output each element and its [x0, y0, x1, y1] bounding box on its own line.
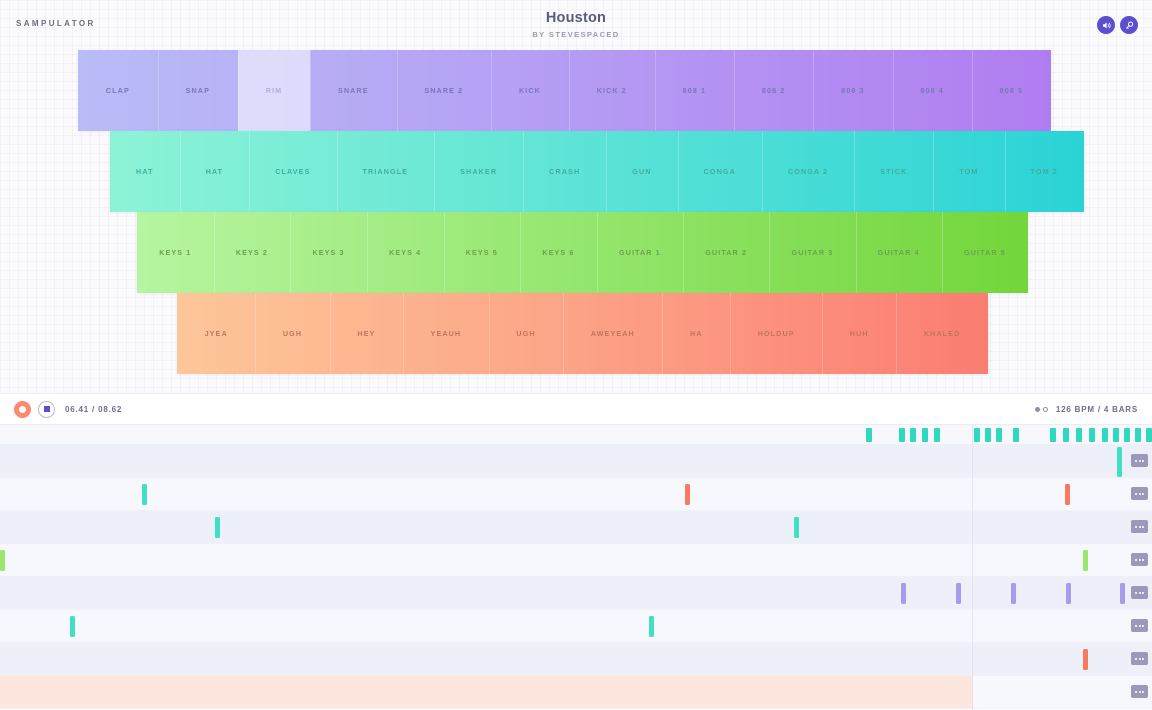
sequencer-note[interactable] [901, 583, 906, 604]
pad-label: TOM 2 [1031, 167, 1058, 176]
pad-label: RIM [266, 86, 282, 95]
sequencer-note[interactable] [142, 484, 147, 505]
pad-label: UGH [283, 329, 302, 338]
timeline-note[interactable] [1102, 428, 1108, 442]
row-options-menu-icon[interactable] [1131, 454, 1148, 467]
timeline-note[interactable] [922, 428, 928, 442]
pad-guitar-4[interactable]: GUITAR 4 [856, 212, 942, 293]
pad-label: GUITAR 3 [792, 248, 834, 257]
pad-label: KICK [519, 86, 541, 95]
pad-keys-2[interactable]: KEYS 2 [214, 212, 291, 293]
pad-label: TOM [959, 167, 978, 176]
sequencer-note[interactable] [1117, 447, 1122, 477]
pad-label: SNAP [186, 86, 210, 95]
pad-stick[interactable]: STICK [854, 131, 933, 212]
pad-guitar-3[interactable]: GUITAR 3 [769, 212, 855, 293]
sequencer-row[interactable] [0, 643, 1152, 676]
pad-label: HAT [206, 167, 224, 176]
pad-snare-2[interactable]: SNARE 2 [397, 50, 492, 131]
pad-label: UGH [516, 329, 535, 338]
sequencer-rows [0, 445, 1152, 710]
pad-guitar-2[interactable]: GUITAR 2 [683, 212, 769, 293]
song-author: BY STEVESPACED [0, 30, 1152, 39]
sampulator-app: SAMPULATOR Houston BY STEVESPACED [0, 0, 1152, 710]
pad-keys-1[interactable]: KEYS 1 [137, 212, 214, 293]
pad-label: 808 5 [1000, 86, 1024, 95]
pad-label: KEYS 5 [466, 248, 498, 257]
pad-label: SHAKER [460, 167, 497, 176]
pad-808-3[interactable]: 808 3 [813, 50, 892, 131]
pad-label: CLAP [106, 86, 130, 95]
pad-label: KEYS 1 [159, 248, 191, 257]
pad-label: CRASH [549, 167, 580, 176]
volume-icon [1101, 20, 1112, 31]
pad-row-percussion-row: HATHATCLAVESTRIANGLESHAKERCRASHGUNCONGAC… [110, 131, 1084, 212]
pad-808-4[interactable]: 808 4 [893, 50, 972, 131]
sequencer-note[interactable] [0, 550, 5, 571]
pad-row-melodic-row: KEYS 1KEYS 2KEYS 3KEYS 4KEYS 5KEYS 6GUIT… [137, 212, 1028, 293]
record-button[interactable] [14, 401, 31, 418]
pad-label: HAT [136, 167, 154, 176]
pad-gun[interactable]: GUN [606, 131, 677, 212]
pad-snap[interactable]: SNAP [158, 50, 238, 131]
song-title-block: Houston BY STEVESPACED [0, 10, 1152, 39]
pad-label: CONGA 2 [788, 167, 828, 176]
pad-triangle[interactable]: TRIANGLE [337, 131, 435, 212]
timeline-note[interactable] [934, 428, 940, 442]
pad-label: HOLDUP [758, 329, 795, 338]
pad-label: 808 4 [920, 86, 944, 95]
song-title: Houston [0, 10, 1152, 27]
pad-label: HUH [850, 329, 869, 338]
pad-label: KHALED [924, 329, 961, 338]
pad-holdup[interactable]: HOLDUP [730, 293, 822, 374]
sequencer-note[interactable] [1083, 649, 1088, 670]
timeline-note[interactable] [866, 428, 872, 442]
pad-hey[interactable]: HEY [330, 293, 403, 374]
pad-label: SNARE 2 [424, 86, 463, 95]
timeline-note[interactable] [1076, 428, 1082, 442]
pad-808-5[interactable]: 808 5 [972, 50, 1051, 131]
sequencer-note[interactable] [1065, 484, 1070, 505]
sequencer[interactable] [0, 425, 1152, 710]
timeline-strip[interactable] [0, 425, 1152, 445]
sequencer-note[interactable] [215, 517, 220, 538]
time-display: 06.41 / 08.62 [65, 405, 122, 414]
pad-label: 808 1 [683, 86, 707, 95]
pad-label: KICK 2 [597, 86, 627, 95]
pad-label: KEYS 4 [389, 248, 421, 257]
pad-grid: CLAPSNAPRIMSNARESNARE 2KICKKICK 2808 180… [0, 48, 1152, 382]
timeline-note[interactable] [1113, 428, 1119, 442]
timeline-note[interactable] [1135, 428, 1141, 442]
sequencer-row[interactable] [0, 676, 1152, 709]
pad-label: YEAUH [431, 329, 462, 338]
pad-label: HEY [357, 329, 375, 338]
pad-rim[interactable]: RIM [238, 50, 310, 131]
sequencer-note[interactable] [1083, 550, 1088, 571]
pad-yeauh[interactable]: YEAUH [403, 293, 489, 374]
pad-guitar-5[interactable]: GUITAR 5 [942, 212, 1028, 293]
sequencer-note[interactable] [1011, 583, 1016, 604]
sequencer-note[interactable] [685, 484, 690, 505]
mode-dot-filled[interactable] [1035, 407, 1040, 412]
pad-label: GUN [632, 167, 651, 176]
pad-label: AWEYEAH [591, 329, 635, 338]
pad-tom-2[interactable]: TOM 2 [1005, 131, 1084, 212]
pad-label: GUITAR 4 [878, 248, 920, 257]
pad-hat[interactable]: HAT [110, 131, 180, 212]
pad-snare[interactable]: SNARE [310, 50, 396, 131]
pad-label: 808 2 [762, 86, 786, 95]
row-options-menu-icon[interactable] [1131, 685, 1148, 698]
pad-jyea[interactable]: JYEA [177, 293, 255, 374]
timeline-note[interactable] [1124, 428, 1130, 442]
pad-label: GUITAR 5 [964, 248, 1006, 257]
sequencer-row[interactable] [0, 577, 1152, 610]
timeline-note[interactable] [1050, 428, 1056, 442]
pad-label: STICK [880, 167, 907, 176]
pad-label: 808 3 [841, 86, 865, 95]
pad-clap[interactable]: CLAP [78, 50, 158, 131]
pad-label: GUITAR 2 [705, 248, 747, 257]
pad-ugh[interactable]: UGH [255, 293, 329, 374]
settings-button[interactable] [1120, 16, 1138, 34]
timeline-note[interactable] [985, 428, 991, 442]
pad-label: GUITAR 1 [619, 248, 661, 257]
pad-conga-2[interactable]: CONGA 2 [762, 131, 854, 212]
sequencer-note[interactable] [70, 616, 75, 637]
sequencer-note[interactable] [1120, 583, 1125, 604]
pad-huh[interactable]: HUH [822, 293, 896, 374]
timeline-note[interactable] [1146, 428, 1152, 442]
pad-ha[interactable]: HA [662, 293, 730, 374]
pad-keys-5[interactable]: KEYS 5 [444, 212, 521, 293]
timeline-note[interactable] [996, 428, 1002, 442]
pad-aweyeah[interactable]: AWEYEAH [563, 293, 662, 374]
sequencer-note[interactable] [649, 616, 654, 637]
pad-kick[interactable]: KICK [491, 50, 569, 131]
sequencer-row[interactable] [0, 478, 1152, 511]
pad-khaled[interactable]: KHALED [896, 293, 988, 374]
pad-label: SNARE [338, 86, 369, 95]
pad-keys-6[interactable]: KEYS 6 [520, 212, 597, 293]
pad-label: KEYS 3 [312, 248, 344, 257]
row-options-menu-icon[interactable] [1131, 487, 1148, 500]
sequencer-row[interactable] [0, 544, 1152, 577]
transport-bar: 06.41 / 08.62 126 BPM / 4 BARS [0, 393, 1152, 425]
pad-keys-3[interactable]: KEYS 3 [290, 212, 367, 293]
sequencer-row[interactable] [0, 511, 1152, 544]
row-options-menu-icon[interactable] [1131, 652, 1148, 665]
timeline-note[interactable] [1089, 428, 1095, 442]
pad-808-1[interactable]: 808 1 [655, 50, 734, 131]
row-options-menu-icon[interactable] [1131, 553, 1148, 566]
app-header: SAMPULATOR Houston BY STEVESPACED [0, 0, 1152, 48]
mode-dot-hollow[interactable] [1043, 407, 1048, 412]
pad-ugh[interactable]: UGH [489, 293, 563, 374]
pad-label: KEYS 6 [542, 248, 574, 257]
pad-keys-4[interactable]: KEYS 4 [367, 212, 444, 293]
pad-guitar-1[interactable]: GUITAR 1 [597, 212, 683, 293]
pad-row-drums-row: CLAPSNAPRIMSNARESNARE 2KICKKICK 2808 180… [78, 50, 1051, 131]
sequencer-note[interactable] [794, 517, 799, 538]
pad-shaker[interactable]: SHAKER [434, 131, 523, 212]
sequencer-note[interactable] [956, 583, 961, 604]
pad-row-vocal-row: JYEAUGHHEYYEAUHUGHAWEYEAHHAHOLDUPHUHKHAL… [177, 293, 988, 374]
pad-label: JYEA [205, 329, 228, 338]
timeline-note[interactable] [910, 428, 916, 442]
row-options-menu-icon[interactable] [1131, 586, 1148, 599]
timeline-note[interactable] [1063, 428, 1069, 442]
pad-label: HA [690, 329, 703, 338]
pad-hat[interactable]: HAT [180, 131, 250, 212]
pad-label: KEYS 2 [236, 248, 268, 257]
pad-label: TRIANGLE [363, 167, 409, 176]
pad-claves[interactable]: CLAVES [249, 131, 336, 212]
timeline-note[interactable] [1013, 428, 1019, 442]
tempo-display: 126 BPM / 4 BARS [1056, 405, 1138, 414]
volume-button[interactable] [1097, 16, 1115, 34]
stop-button[interactable] [38, 401, 55, 418]
pad-kick-2[interactable]: KICK 2 [569, 50, 655, 131]
pad-conga[interactable]: CONGA [678, 131, 762, 212]
row-options-menu-icon[interactable] [1131, 520, 1148, 533]
key-icon [1124, 20, 1135, 31]
pad-crash[interactable]: CRASH [523, 131, 606, 212]
pad-label: CONGA [704, 167, 736, 176]
pad-808-2[interactable]: 808 2 [734, 50, 813, 131]
sequencer-note[interactable] [1066, 583, 1071, 604]
timeline-note[interactable] [974, 428, 980, 442]
timeline-note[interactable] [899, 428, 905, 442]
pad-label: CLAVES [275, 167, 310, 176]
tempo-group: 126 BPM / 4 BARS [1035, 405, 1138, 414]
pad-tom[interactable]: TOM [933, 131, 1004, 212]
sequencer-row[interactable] [0, 610, 1152, 643]
sequencer-row[interactable] [0, 445, 1152, 478]
row-options-menu-icon[interactable] [1131, 619, 1148, 632]
